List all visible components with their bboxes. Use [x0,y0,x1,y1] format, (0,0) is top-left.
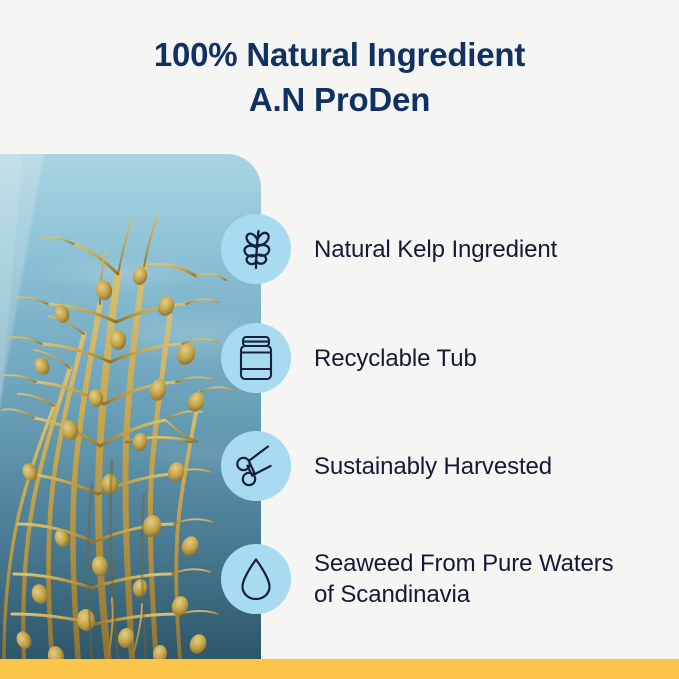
feature-item-recyclable-tub[interactable]: Recyclable Tub [221,323,661,393]
feature-item-natural-kelp[interactable]: Natural Kelp Ingredient [221,214,661,284]
feature-label: Recyclable Tub [314,343,477,374]
bottom-accent-bar [0,659,679,679]
feature-item-sustainably-harvested[interactable]: Sustainably Harvested [221,431,661,501]
product-feature-infographic: 100% Natural Ingredient A.N ProDen [0,0,679,679]
scissors-icon [221,431,291,501]
feature-label: Sustainably Harvested [314,451,552,482]
water-droplet-icon [221,544,291,614]
feature-item-pure-waters[interactable]: Seaweed From Pure Waters of Scandinavia [221,544,661,614]
feature-label: Natural Kelp Ingredient [314,234,557,265]
feature-list: Natural Kelp Ingredient Recyclable Tub [0,0,679,679]
kelp-leaf-icon [221,214,291,284]
feature-label: Seaweed From Pure Waters of Scandinavia [314,548,614,610]
tub-jar-icon [221,323,291,393]
